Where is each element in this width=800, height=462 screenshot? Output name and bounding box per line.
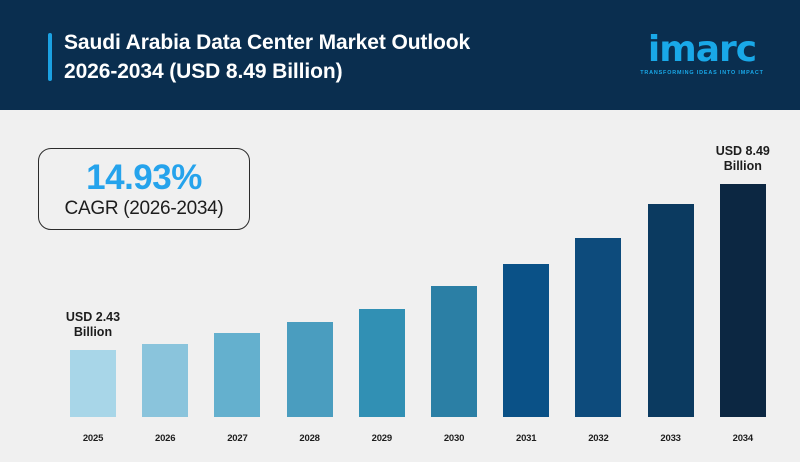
x-axis-label-2032: 2032 [575, 433, 621, 444]
bar-group-2030 [431, 286, 477, 417]
title-line-1: Saudi Arabia Data Center Market Outlook [64, 28, 664, 57]
bar-group-2027 [214, 333, 260, 417]
bar-2031 [503, 264, 549, 417]
bar-value-label-2034: USD 8.49Billion [688, 144, 798, 174]
x-axis-label-2031: 2031 [503, 433, 549, 444]
bar-value-label-line2: Billion [38, 325, 148, 340]
bar-2025 [70, 350, 116, 417]
imarc-logo: imarc TRANSFORMING IDEAS INTO IMPACT [636, 33, 768, 83]
x-axis-label-2025: 2025 [70, 433, 116, 444]
bar-2032 [575, 238, 621, 417]
x-axis-label-2033: 2033 [648, 433, 694, 444]
bar-group-2025: USD 2.43Billion [70, 350, 116, 417]
bar-group-2029 [359, 309, 405, 417]
page-title: Saudi Arabia Data Center Market Outlook … [64, 28, 664, 86]
title-accent-bar [48, 33, 52, 81]
bar-group-2026 [142, 344, 188, 417]
bar-group-2034: USD 8.49Billion [720, 184, 766, 417]
bar-group-2032 [575, 238, 621, 417]
bar-value-label-line1: USD 8.49 [688, 144, 798, 159]
bar-group-2028 [287, 322, 333, 417]
bar-group-2033 [648, 204, 694, 417]
x-axis-label-2030: 2030 [431, 433, 477, 444]
bar-2027 [214, 333, 260, 417]
bar-group-2031 [503, 264, 549, 417]
infographic-canvas: Saudi Arabia Data Center Market Outlook … [0, 0, 800, 462]
x-axis-label-2027: 2027 [214, 433, 260, 444]
x-axis-label-2028: 2028 [287, 433, 333, 444]
logo-tagline: TRANSFORMING IDEAS INTO IMPACT [636, 70, 768, 76]
x-axis-label-2029: 2029 [359, 433, 405, 444]
bar-2029 [359, 309, 405, 417]
x-axis-label-2034: 2034 [720, 433, 766, 444]
bar-chart: USD 2.43Billion2025202620272028202920302… [0, 110, 800, 462]
bar-2034 [720, 184, 766, 417]
bar-value-label-line2: Billion [688, 159, 798, 174]
title-line-2: 2026-2034 (USD 8.49 Billion) [64, 57, 664, 86]
bar-value-label-line1: USD 2.43 [38, 310, 148, 325]
bar-2030 [431, 286, 477, 417]
logo-wordmark: imarc [636, 33, 768, 67]
x-axis-label-2026: 2026 [142, 433, 188, 444]
header-banner: Saudi Arabia Data Center Market Outlook … [0, 0, 800, 110]
bar-2033 [648, 204, 694, 417]
bar-value-label-2025: USD 2.43Billion [38, 310, 148, 340]
bar-2028 [287, 322, 333, 417]
bar-2026 [142, 344, 188, 417]
